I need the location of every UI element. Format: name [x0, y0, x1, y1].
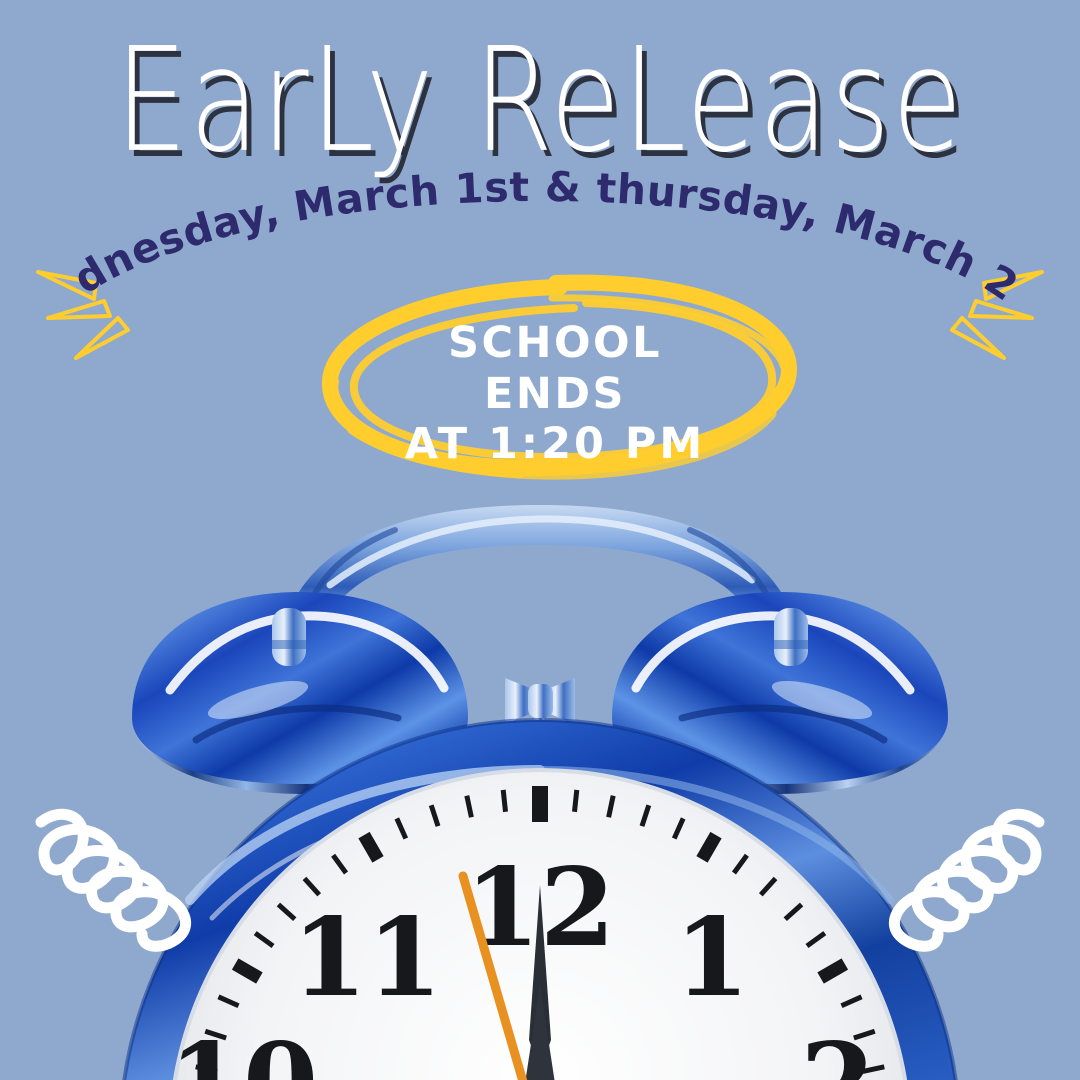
school-ends-line-2: AT 1:20 PM — [370, 419, 740, 470]
early-release-poster: 12 11 1 10 2 — [0, 0, 1080, 1080]
school-ends-text: SCHOOL ENDS AT 1:20 PM — [370, 318, 740, 470]
highlight-scribble-circle — [0, 0, 1080, 1080]
school-ends-line-1: SCHOOL ENDS — [370, 318, 740, 419]
